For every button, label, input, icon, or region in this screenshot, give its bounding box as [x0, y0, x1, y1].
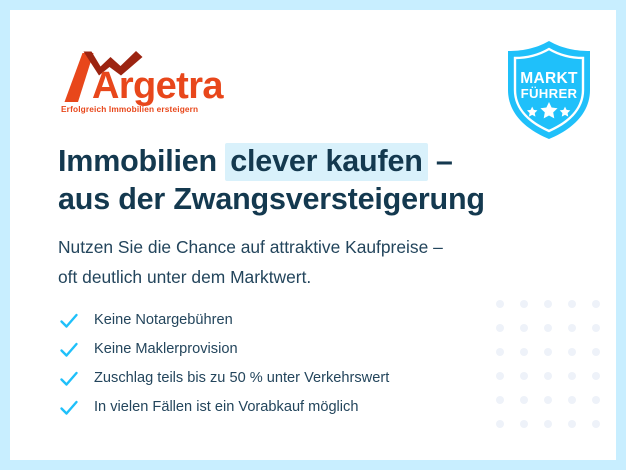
dot [568, 396, 576, 404]
promo-banner: Argetra Erfolgreich Immobilien ersteiger… [0, 0, 626, 470]
subtitle: Nutzen Sie die Chance auf attraktive Kau… [58, 232, 578, 292]
headline-highlight: clever kaufen [225, 143, 427, 181]
headline-line-1: Immobilien clever kaufen – [58, 142, 578, 180]
markt-fuehrer-badge: MARKT FÜHRER [497, 38, 601, 142]
headline-line-2: aus der Zwangsversteigerung [58, 180, 578, 218]
list-item-label: Keine Notargebühren [94, 313, 233, 328]
dot [544, 420, 552, 428]
dot [544, 324, 552, 332]
argetra-logo: Argetra Erfolgreich Immobilien ersteiger… [58, 48, 248, 120]
checkmark-icon [58, 339, 80, 361]
checkmark-icon [58, 397, 80, 419]
banner-canvas: Argetra Erfolgreich Immobilien ersteiger… [10, 10, 616, 460]
checkmark-icon [58, 368, 80, 390]
dot [544, 300, 552, 308]
badge-line1: MARKT [520, 70, 578, 87]
argetra-roof-a-icon: Argetra [58, 48, 248, 106]
dot [592, 300, 600, 308]
list-item-label: Keine Maklerprovision [94, 342, 238, 357]
list-item: Keine Maklerprovision [58, 335, 528, 364]
list-item: Zuschlag teils bis zu 50 % unter Verkehr… [58, 364, 528, 393]
svg-text:Argetra: Argetra [92, 65, 224, 106]
dot [592, 372, 600, 380]
logo-tagline: Erfolgreich Immobilien ersteigern [61, 104, 198, 114]
subtitle-line-2: oft deutlich unter dem Marktwert. [58, 262, 578, 292]
list-item: In vielen Fällen ist ein Vorabkauf mögli… [58, 393, 528, 422]
page-title: Immobilien clever kaufen – aus der Zwang… [58, 142, 578, 218]
dot [568, 324, 576, 332]
list-item-label: Zuschlag teils bis zu 50 % unter Verkehr… [94, 371, 389, 386]
dot [592, 348, 600, 356]
checkmark-icon [58, 310, 80, 332]
list-item-label: In vielen Fällen ist ein Vorabkauf mögli… [94, 400, 358, 415]
list-item: Keine Notargebühren [58, 306, 528, 335]
dot [544, 396, 552, 404]
dot [568, 420, 576, 428]
dot [592, 396, 600, 404]
dot [568, 348, 576, 356]
dot [592, 420, 600, 428]
dot [544, 348, 552, 356]
benefit-list: Keine Notargebühren Keine Maklerprovisio… [58, 306, 528, 422]
dot [568, 300, 576, 308]
dot [568, 372, 576, 380]
headline-suffix: – [428, 144, 453, 178]
badge-line2: FÜHRER [521, 86, 578, 101]
dot [544, 372, 552, 380]
subtitle-line-1: Nutzen Sie die Chance auf attraktive Kau… [58, 232, 578, 262]
dot [592, 324, 600, 332]
headline-prefix: Immobilien [58, 144, 225, 178]
